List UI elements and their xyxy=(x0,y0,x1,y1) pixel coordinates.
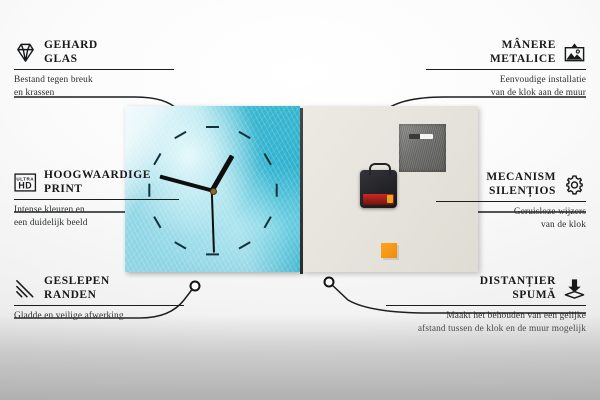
callout-title-line2: SILENȚIOS xyxy=(489,184,556,198)
callout-distantier-spuma: DISTANȚIER SPUMĂ Maakt het behouden van … xyxy=(386,274,586,335)
quartz-movement xyxy=(360,170,397,208)
clock-center-pivot xyxy=(210,188,217,195)
callout-desc-line1: Geruisloze wijzers xyxy=(436,206,586,218)
callout-rule xyxy=(14,69,174,70)
callout-title: GESLEPEN RANDEN xyxy=(14,274,184,302)
callout-desc-line1: Bestand tegen breuk xyxy=(14,74,174,86)
callout-title-line2: RANDEN xyxy=(44,288,110,302)
callout-title: MECANISM SILENȚIOS xyxy=(436,170,586,198)
callout-title-line1: HOOGWAARDIGE xyxy=(44,168,151,182)
callout-title-line1: MECANISM xyxy=(486,170,556,184)
callout-rule xyxy=(14,199,179,200)
callout-title: DISTANȚIER SPUMĂ xyxy=(386,274,586,302)
picture-hanger-icon xyxy=(563,41,586,64)
leader-dot-distantier-spuma xyxy=(325,278,334,287)
clock-tick xyxy=(175,131,187,140)
callout-desc: Gladde en veilige afwerking xyxy=(14,310,184,322)
callout-desc-line1: Gladde en veilige afwerking xyxy=(14,310,184,322)
callout-desc-line1: Intense kleuren en xyxy=(14,204,179,216)
callout-manere-metalice: MÂNERE METALICE Eenvoudige installatie v… xyxy=(426,38,586,99)
callout-title-line2: PRINT xyxy=(44,182,151,196)
callout-title-line1: GEHARD xyxy=(44,38,98,52)
callout-title-line1: DISTANȚIER xyxy=(480,274,556,288)
clock-tick xyxy=(263,153,272,165)
callout-desc: Maakt het behouden van een gelijke afsta… xyxy=(386,310,586,335)
clock-second-hand xyxy=(211,191,215,253)
callout-rule xyxy=(426,69,586,70)
ultra-hd-icon: ultra HD xyxy=(14,171,37,194)
callout-desc-line2: een duidelijk beeld xyxy=(14,217,179,229)
callout-desc: Eenvoudige installatie van de klok aan d… xyxy=(426,74,586,99)
clock-tick xyxy=(206,253,219,255)
callout-desc-line1: Eenvoudige installatie xyxy=(426,74,586,86)
clock-tick xyxy=(275,184,277,197)
infographic-canvas: GEHARD GLAS Bestand tegen breuk en krass… xyxy=(0,0,600,400)
callout-hoogwaardige-print: ultra HD HOOGWAARDIGE PRINT Intense kleu… xyxy=(14,168,179,229)
hanger-loop xyxy=(369,163,391,175)
metal-hanger-plate xyxy=(399,124,446,172)
gear-icon xyxy=(563,173,586,196)
clock-tick xyxy=(263,216,272,228)
beveled-edges-icon xyxy=(14,277,37,300)
callout-desc-line2: van de klok aan de muur xyxy=(426,87,586,99)
callout-geslepen-randen: GESLEPEN RANDEN Gladde en veilige afwerk… xyxy=(14,274,184,323)
callout-title-line2: GLAS xyxy=(44,52,98,66)
callout-rule xyxy=(14,305,184,306)
hanger-slot xyxy=(409,134,433,139)
callout-desc: Intense kleuren en een duidelijk beeld xyxy=(14,204,179,229)
callout-title-line2: METALICE xyxy=(490,52,556,66)
ultra-hd-icon-large-text: HD xyxy=(18,180,32,190)
callout-desc-line2: en krassen xyxy=(14,87,174,99)
clock-tick xyxy=(175,241,187,250)
leader-dot-geslepen-randen xyxy=(191,282,200,291)
diamond-icon xyxy=(14,41,37,64)
battery-terminal xyxy=(387,195,393,203)
callout-title-line2: SPUMĂ xyxy=(512,288,556,302)
callout-gehard-glas: GEHARD GLAS Bestand tegen breuk en krass… xyxy=(14,38,174,99)
clock-hour-hand xyxy=(210,154,234,191)
spacer-down-arrow-icon xyxy=(563,277,586,300)
callout-desc-line2: van de klok xyxy=(436,219,586,231)
callout-rule xyxy=(436,201,586,202)
clock-tick xyxy=(206,126,219,128)
callout-desc: Geruisloze wijzers van de klok xyxy=(436,206,586,231)
callout-title-line1: GESLEPEN xyxy=(44,274,110,288)
foam-spacer xyxy=(381,243,397,258)
callout-title-line1: MÂNERE xyxy=(502,38,556,52)
clock-tick xyxy=(238,131,250,140)
callout-desc-line2: afstand tussen de klok en de muur mogeli… xyxy=(386,323,586,335)
callout-title: MÂNERE METALICE xyxy=(426,38,586,66)
callout-title: ultra HD HOOGWAARDIGE PRINT xyxy=(14,168,179,196)
battery xyxy=(363,194,394,205)
clock-tick xyxy=(238,241,250,250)
clock-tick xyxy=(153,153,162,165)
callout-mecanism-silentios: MECANISM SILENȚIOS Geruisloze wijzers va… xyxy=(436,170,586,231)
callout-rule xyxy=(386,305,586,306)
callout-desc: Bestand tegen breuk en krassen xyxy=(14,74,174,99)
callout-desc-line1: Maakt het behouden van een gelijke xyxy=(386,310,586,322)
callout-title: GEHARD GLAS xyxy=(14,38,174,66)
